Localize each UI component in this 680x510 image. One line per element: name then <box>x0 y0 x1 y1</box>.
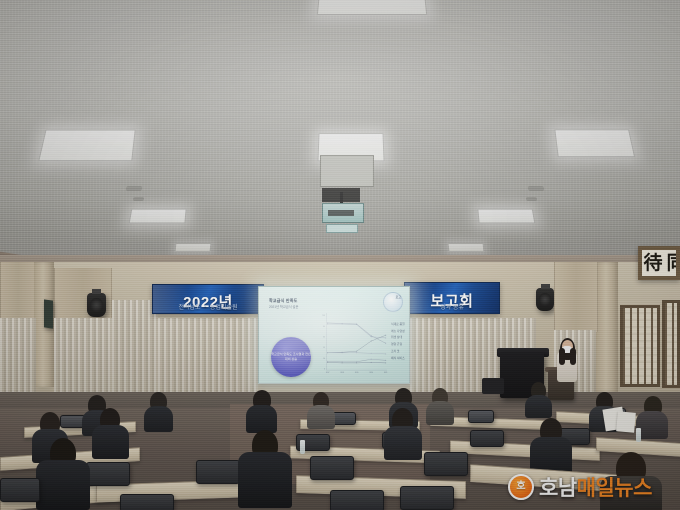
chart-x-tick: 2018 <box>340 372 344 374</box>
audience-chair <box>196 460 240 484</box>
curtain-left <box>0 318 36 400</box>
chart-point <box>327 322 328 323</box>
calligraphy-frame: 印 待 同 <box>638 246 680 280</box>
watermark: 호 호남매일뉴스 <box>508 472 652 502</box>
person-torso <box>384 426 422 460</box>
chart-x-tick-labels: 20172018201920202021 <box>326 372 388 374</box>
person-torso <box>92 425 129 459</box>
chart-y-tick: 80 <box>323 326 325 328</box>
lattice-window <box>662 300 680 388</box>
person-torso <box>525 395 552 418</box>
slide-callout-badge: 학교급식 만족도 조사결과 전년대비 상승 <box>271 337 311 377</box>
person-torso <box>36 460 90 510</box>
chart-point <box>342 362 343 363</box>
calligraphy-char-2: 同 <box>667 254 680 273</box>
chart-y-tick: 60 <box>323 336 325 338</box>
chart-point <box>371 336 372 337</box>
chart-y-tick: 40 <box>323 347 325 349</box>
audience-chair <box>310 456 354 480</box>
chart-point <box>385 337 386 338</box>
chart-legend: 식재료 품질메뉴 다양성위생 상태영양 균형조리 맛배식 서비스 <box>391 321 405 361</box>
chart-point <box>371 335 372 336</box>
chart-point <box>327 362 328 363</box>
chart-point <box>385 360 386 361</box>
speaker-mount-right <box>541 284 550 289</box>
projection-screen: 학교급식 만족도 2021년 학교급식 설문 로고 학교급식 만족도 조사결과 … <box>258 286 410 384</box>
chart-y-tick: 20 <box>323 358 325 360</box>
chart-svg: 20172018201920202021 100806040200 <box>321 313 387 375</box>
chart-legend-item: 메뉴 다양성 <box>391 328 405 335</box>
chart-point <box>342 324 343 325</box>
chart-point <box>371 353 372 354</box>
chart-y-tick-labels: 100806040200 <box>322 315 325 370</box>
slide-callout-text: 학교급식 만족도 조사결과 전년대비 상승 <box>271 352 311 361</box>
watermark-logo-glyph: 호 <box>516 482 525 492</box>
slide-subtitle: 2021년 학교급식 설문 <box>269 304 298 309</box>
slide-line-chart: 20172018201920202021 100806040200 <box>321 313 387 375</box>
presenter-hair-side-left <box>559 348 565 365</box>
chart-point <box>385 353 386 354</box>
handout-paper <box>616 411 636 432</box>
chart-legend-item: 영양 균형 <box>391 341 405 348</box>
wall-pillar-right <box>596 262 618 392</box>
curtain-behind-screen <box>158 318 258 400</box>
watermark-logo-icon: 호 <box>508 474 534 500</box>
watermark-text-part-a: 호남 <box>539 477 577 500</box>
chart-point <box>342 352 343 353</box>
chart-legend-item: 식재료 품질 <box>391 321 405 328</box>
watermark-text: 호남매일뉴스 <box>539 472 652 502</box>
ceiling <box>0 0 680 262</box>
person-torso <box>144 406 173 432</box>
person-torso <box>426 401 454 425</box>
audience-chair <box>86 462 130 486</box>
chart-point <box>356 324 357 325</box>
person-torso <box>307 405 335 429</box>
chart-point <box>342 361 343 362</box>
banner-left-subtitle: 전라남도 ・ 농업기술원 <box>153 302 263 311</box>
chart-point <box>356 352 357 353</box>
chart-point <box>327 324 328 325</box>
event-banner-left: 2022년 전라남도 ・ 농업기술원 <box>152 284 264 314</box>
chart-x-tick: 2019 <box>355 372 359 374</box>
wall-speaker-right <box>536 288 554 311</box>
curtain-left-2 <box>54 318 112 400</box>
event-banner-right: 보고회 성과 공유 <box>404 282 500 314</box>
chart-point <box>385 335 386 336</box>
chart-point <box>385 362 386 363</box>
wall-panel-right <box>554 262 598 332</box>
chart-point <box>356 351 357 352</box>
person-torso <box>246 405 277 433</box>
speaker-mount-left <box>92 289 101 294</box>
audience-chair <box>424 452 468 476</box>
chart-legend-item: 위생 상태 <box>391 334 405 341</box>
audience-chair <box>330 490 384 510</box>
audience-chair <box>468 410 494 423</box>
curtain-center-left <box>112 300 158 400</box>
chart-point <box>371 362 372 363</box>
chart-series-group <box>327 322 386 363</box>
chart-y-tick: 100 <box>322 315 325 317</box>
calligraphy-seal: 印 <box>638 261 639 266</box>
water-bottle <box>300 440 305 454</box>
audience-chair <box>120 494 174 510</box>
chart-y-tick: 0 <box>324 368 325 370</box>
chart-point <box>385 343 386 344</box>
chart-point <box>356 362 357 363</box>
wall-acoustic-panel <box>44 299 53 328</box>
chart-point <box>327 352 328 353</box>
audience-chair <box>0 478 40 502</box>
wall-speaker-left <box>87 293 106 317</box>
banner-right-subtitle: 성과 공유 <box>405 302 499 311</box>
piano-bench <box>482 378 504 394</box>
chart-x-tick: 2017 <box>326 372 330 374</box>
calligraphy-char-1: 待 <box>643 254 662 273</box>
chart-point <box>371 341 372 342</box>
chart-x-tick: 2021 <box>384 372 388 374</box>
chart-line-1 <box>328 323 386 343</box>
ceiling-shading <box>0 0 680 262</box>
chart-legend-item: 조리 맛 <box>391 348 405 355</box>
audience-chair <box>400 486 454 510</box>
lattice-window <box>620 305 660 387</box>
chart-legend-item: 배식 서비스 <box>391 355 405 362</box>
chart-point <box>371 359 372 360</box>
presenter-hair-side-right <box>570 348 576 365</box>
wall-panel-left <box>0 262 36 322</box>
person-torso <box>238 452 292 508</box>
chart-point <box>356 361 357 362</box>
chart-line-2 <box>328 324 386 338</box>
chart-point <box>327 361 328 362</box>
chart-x-tick: 2020 <box>369 372 373 374</box>
slide-logo-label: 로고 <box>395 295 401 299</box>
audience-chair <box>470 430 504 447</box>
water-bottle <box>636 428 641 442</box>
photo-scene: 印 待 同 2022년 전라남도 ・ 농업기술원 보고회 성과 공유 학교급식 … <box>0 0 680 510</box>
watermark-text-part-b: 매일뉴스 <box>577 477 652 500</box>
chart-line-3 <box>328 335 386 353</box>
